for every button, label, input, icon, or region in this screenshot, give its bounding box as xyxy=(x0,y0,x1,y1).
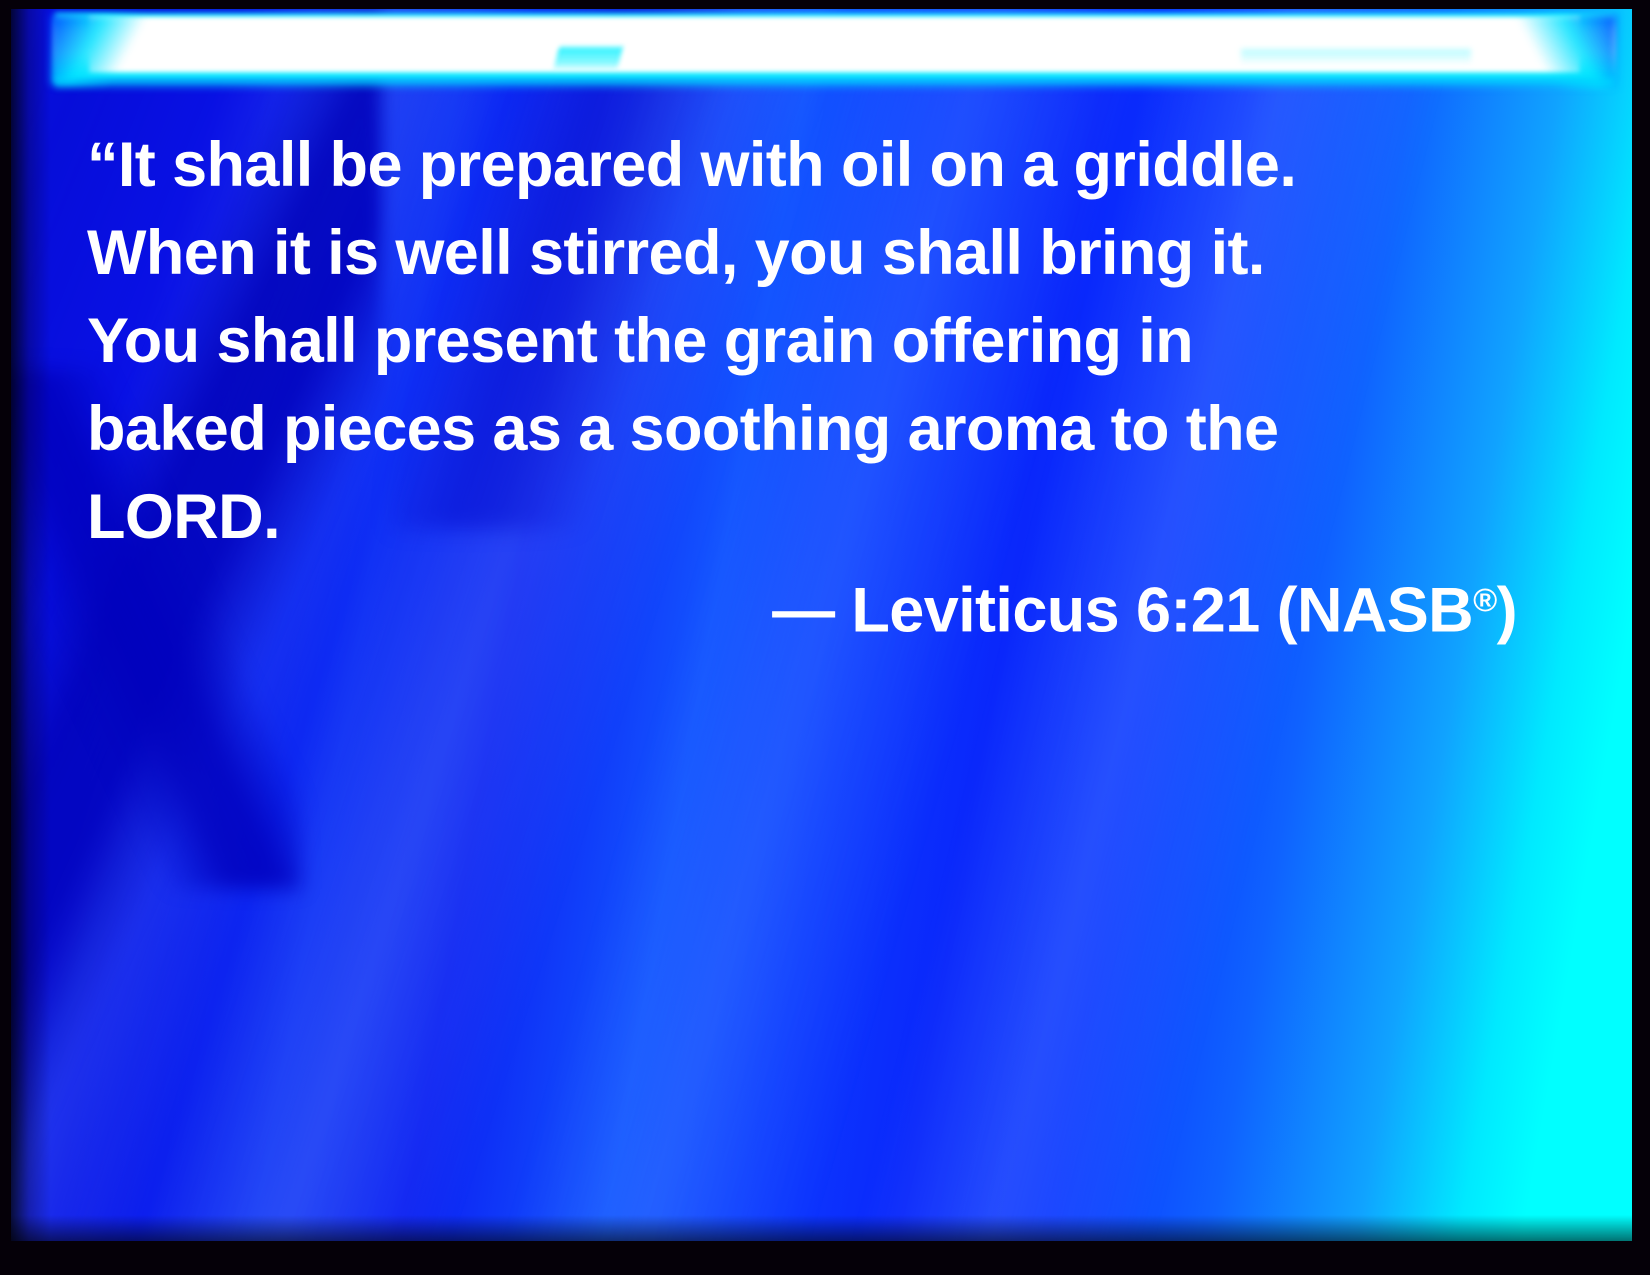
verse-slide: “It shall be prepared with oil on a grid… xyxy=(0,0,1650,1275)
attribution-suffix: ) xyxy=(1497,575,1517,645)
slide-canvas: “It shall be prepared with oil on a grid… xyxy=(11,9,1632,1241)
background-bottom-shade xyxy=(11,1215,1632,1241)
verse-line-3: You shall present the grain offering in xyxy=(87,297,1517,385)
verse-line-4: baked pieces as a soothing aroma to the xyxy=(87,385,1517,473)
verse-line-5: LORD. xyxy=(87,473,1517,561)
attribution-prefix: — Leviticus 6:21 (NASB xyxy=(772,575,1473,645)
verse-line-1: “It shall be prepared with oil on a grid… xyxy=(87,121,1517,209)
registered-trademark-icon: ® xyxy=(1473,581,1497,618)
verse-attribution: — Leviticus 6:21 (NASB®) xyxy=(87,556,1517,654)
verse-text-block: “It shall be prepared with oil on a grid… xyxy=(87,121,1517,561)
background-left-shade xyxy=(11,9,51,1241)
verse-line-2: When it is well stirred, you shall bring… xyxy=(87,209,1517,297)
